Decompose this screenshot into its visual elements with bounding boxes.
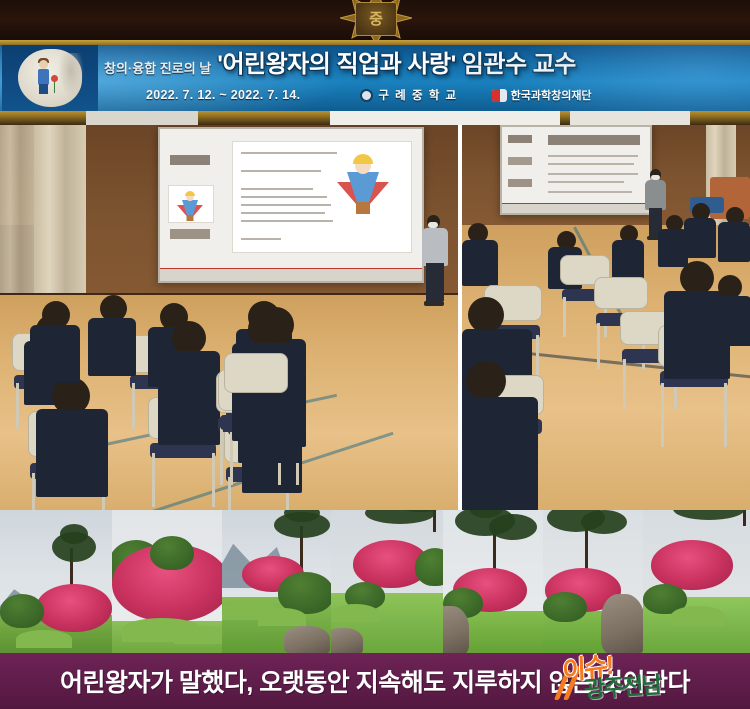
wall-panel-center (330, 111, 560, 125)
banner-text-group: 창의·융합 진로의 날 '어린왕자의 직업과 사랑' 임관수 교수 2022. … (104, 47, 744, 109)
student (156, 321, 222, 441)
student (462, 223, 498, 285)
student (34, 377, 110, 497)
emblem-center: 중 (355, 2, 397, 36)
little-prince-illustration (2, 45, 98, 111)
slide-sidebar-thumb-2 (168, 185, 214, 223)
school-seal-icon (360, 89, 373, 102)
banner-section: 중 창의·융합 진로의 날 '어린왕자의 직업과 사랑' 임관수 교수 (0, 0, 750, 125)
projection-screen (158, 127, 424, 283)
garden-photo-7 (643, 510, 750, 655)
rose-stem (54, 81, 55, 93)
banner-subline: 2022. 7. 12. ~ 2022. 7. 14. 구 례 중 학 교 한국… (146, 87, 592, 103)
projection-screen (500, 125, 652, 215)
sponsor-logo-group: 한국과학창의재단 (492, 87, 592, 103)
rose-icon (51, 75, 58, 82)
slide-thumb-1 (508, 135, 532, 143)
slide-thumb-3 (508, 179, 532, 187)
banner-title: '어린왕자의 직업과 사랑' (217, 53, 456, 77)
prince-body (38, 69, 49, 85)
lecture-hall-wide-photo (0, 125, 458, 510)
garden-photo-4 (331, 510, 443, 655)
garden-photo-6 (543, 510, 643, 655)
student (612, 225, 644, 279)
garden-photo-3 (222, 510, 331, 655)
slide-sidebar-thumb-1 (170, 155, 210, 165)
presentation-toolbar (502, 203, 650, 213)
event-banner: 창의·융합 진로의 날 '어린왕자의 직업과 사랑' 임관수 교수 2022. … (0, 45, 750, 111)
wall-panel-left (86, 111, 198, 125)
student (462, 361, 540, 510)
prince-head (39, 60, 48, 69)
garden-photo-5 (443, 510, 543, 655)
slide-prince-illustration (337, 156, 397, 218)
stage-lower-wall (0, 111, 750, 125)
school-emblem-icon: 중 (337, 0, 415, 42)
banner-date-range: 2022. 7. 12. ~ 2022. 7. 14. (146, 88, 300, 102)
school-logo-group: 구 례 중 학 교 (360, 87, 457, 103)
emblem-label: 중 (369, 12, 383, 27)
lecture-hall-rear-photo (462, 125, 750, 510)
caption-bar: 어린왕자가 말했다, 오랫동안 지속해도 지루하지 않은 것이란다 (0, 653, 750, 709)
poster-image: 중 창의·융합 진로의 날 '어린왕자의 직업과 사랑' 임관수 교수 (0, 0, 750, 709)
slide-thumb-2 (508, 157, 532, 165)
student (684, 203, 716, 257)
middle-photo-row (0, 125, 750, 510)
tree-shape (58, 53, 84, 97)
student (88, 295, 138, 375)
prince-legs (39, 84, 48, 94)
slide-main-content (232, 141, 412, 253)
wall-panel-right (570, 111, 690, 125)
student (708, 275, 750, 345)
garden-photo-strip (0, 510, 750, 655)
speaker-person (418, 215, 454, 331)
caption-text: 어린왕자가 말했다, 오랫동안 지속해도 지루하지 않은 것이란다 (8, 659, 742, 703)
banner-prefix: 창의·융합 진로의 날 (104, 58, 211, 77)
student (28, 301, 82, 383)
banner-speaker: 임관수 교수 (462, 53, 576, 77)
kofac-logo-icon (492, 89, 507, 102)
banner-headline: 창의·융합 진로의 날 '어린왕자의 직업과 사랑' 임관수 교수 (104, 53, 576, 77)
school-name: 구 례 중 학 교 (378, 87, 457, 103)
sponsor-name: 한국과학창의재단 (511, 87, 592, 103)
photo-divider (458, 125, 462, 510)
slide-heading-block (548, 135, 640, 145)
presentation-toolbar (160, 268, 422, 281)
student (718, 207, 750, 261)
student (658, 215, 688, 267)
slide-thumb-prince (177, 192, 192, 206)
slide-sidebar-thumb-3 (170, 229, 210, 239)
garden-photo-2 (112, 510, 222, 655)
garden-photo-1 (0, 510, 112, 655)
